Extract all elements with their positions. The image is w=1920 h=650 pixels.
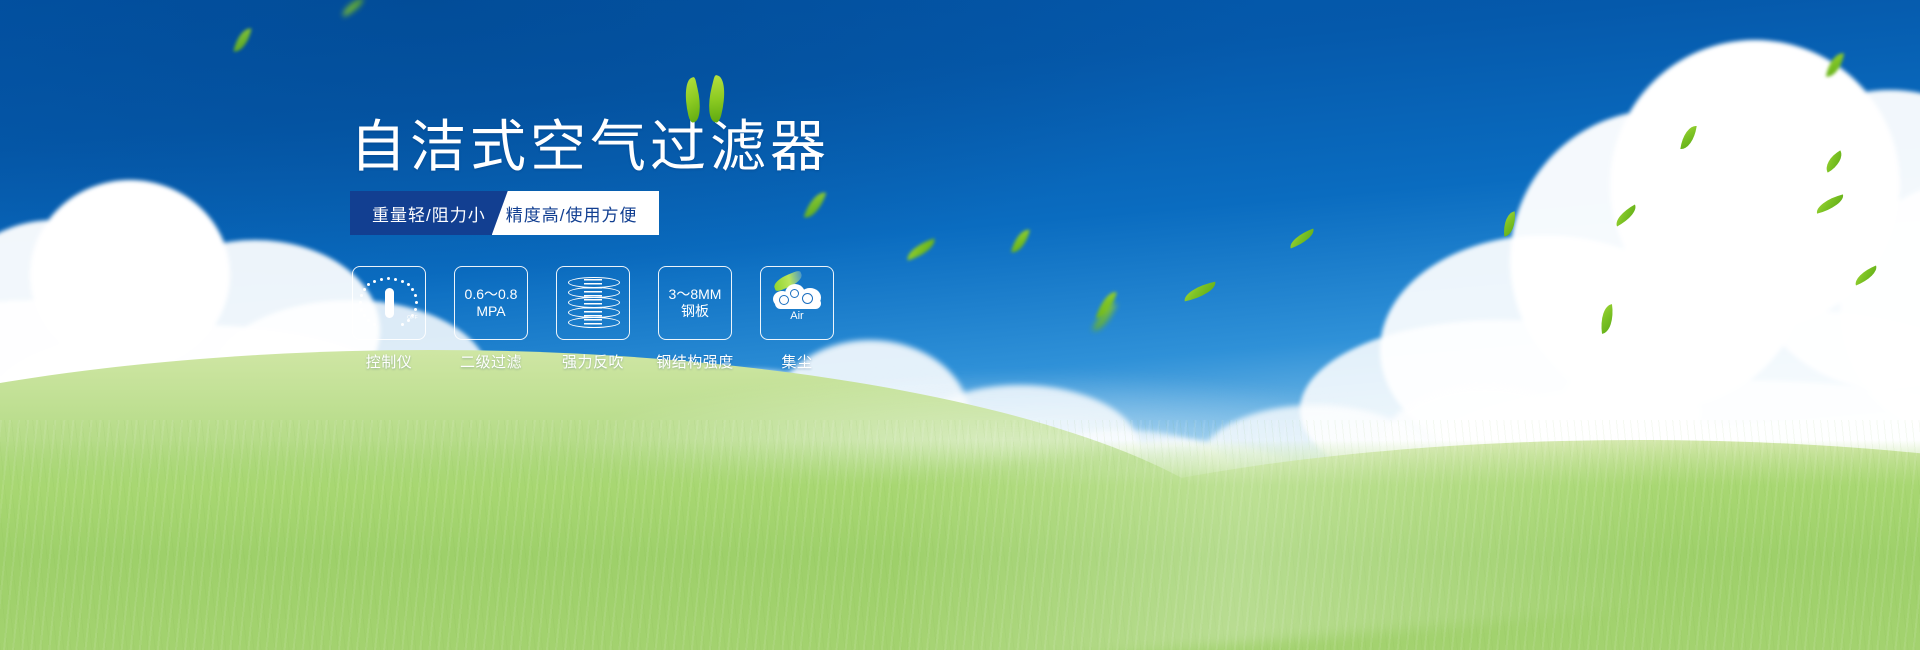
feature-item-backblow: 强力反吹 — [554, 266, 632, 372]
feature-icon-box: NO OFF — [352, 266, 426, 340]
pressure-value-line1: 0.6～0.8 — [465, 286, 518, 303]
pressure-value-line2: MPA — [476, 303, 505, 320]
feature-list: NO OFF 控制仪 0.6～0.8 MPA 二级过滤 — [350, 266, 836, 372]
feature-label: 集尘 — [781, 351, 812, 372]
feature-label: 钢结构强度 — [656, 351, 734, 372]
filter-stack-icon — [568, 277, 618, 329]
leaf-sprout-icon — [683, 76, 729, 126]
steel-value-line2: 钢板 — [681, 303, 709, 320]
page-title: 自洁式空气过滤器 — [350, 118, 830, 178]
feature-icon-box — [556, 266, 630, 340]
feature-item-steel: 3～8MM 钢板 钢结构强度 — [656, 266, 734, 372]
steel-value-line1: 3～8MM — [669, 286, 722, 303]
gauge-controller-icon: NO OFF — [361, 275, 417, 331]
feature-item-controller: NO OFF 控制仪 — [350, 266, 428, 372]
feature-icon-box: Air — [760, 266, 834, 340]
product-banner: 自洁式空气过滤器 重量轻/阻力小 精度高/使用方便 — [0, 0, 1920, 650]
feature-item-pressure: 0.6～0.8 MPA 二级过滤 — [452, 266, 530, 372]
air-label: Air — [790, 310, 803, 322]
badge-primary: 重量轻/阻力小 — [350, 191, 508, 235]
badge-secondary: 精度高/使用方便 — [492, 191, 660, 235]
feature-item-dust: Air 集尘 — [758, 266, 836, 372]
dust-cloud-icon: Air — [768, 279, 826, 327]
gauge-needle — [385, 288, 394, 318]
feature-icon-box: 0.6～0.8 MPA — [454, 266, 528, 340]
gauge-max-label: OFF — [407, 310, 418, 327]
gauge-min-label: NO — [358, 303, 366, 320]
feature-label: 强力反吹 — [562, 351, 624, 372]
tagline-badges: 重量轻/阻力小 精度高/使用方便 — [350, 191, 659, 235]
banner-content: 自洁式空气过滤器 重量轻/阻力小 精度高/使用方便 — [0, 0, 1920, 650]
feature-icon-box: 3～8MM 钢板 — [658, 266, 732, 340]
feature-label: 控制仪 — [366, 351, 413, 372]
title-block: 自洁式空气过滤器 — [350, 118, 830, 178]
feature-label: 二级过滤 — [460, 351, 522, 372]
